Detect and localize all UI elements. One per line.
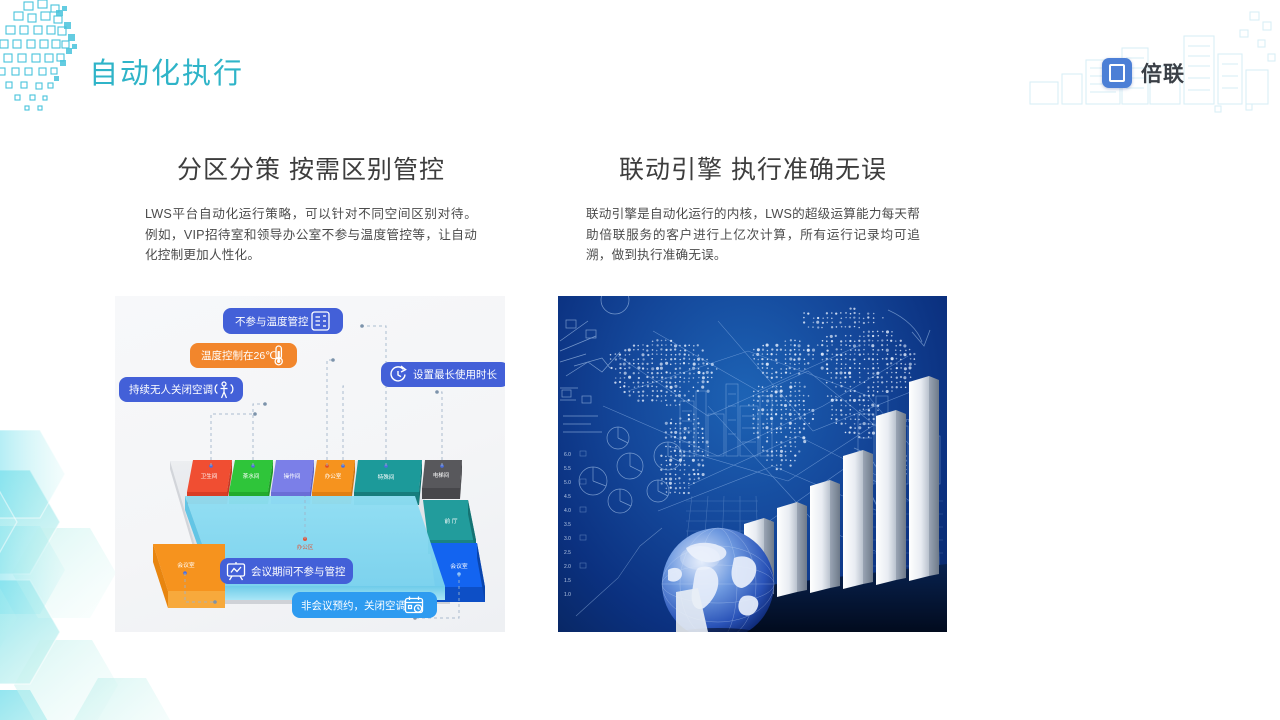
callout-pill[interactable]: 设置最长使用时长 — [381, 362, 505, 387]
svg-text:温度控制在26℃: 温度控制在26℃ — [201, 349, 277, 362]
column-left: 分区分策 按需区别管控 LWS平台自动化运行策略，可以针对不同空间区别对待。例如… — [115, 150, 507, 266]
svg-text:3.0: 3.0 — [564, 536, 571, 542]
slide-root: 自动化执行 倍联 分区分策 按需区别管控 LWS平台自动化运行策略，可以针对不同… — [0, 0, 1280, 720]
page-title: 自动化执行 — [89, 50, 244, 92]
square-logo-icon — [1102, 58, 1132, 88]
svg-text:会议室: 会议室 — [177, 561, 195, 569]
column-right: 联动引擎 执行准确无误 联动引擎是自动化运行的内核，LWS的超级运算能力每天帮助… — [558, 150, 948, 266]
callout-pill[interactable]: 会议期间不参与管控 — [220, 558, 353, 584]
svg-text:2.5: 2.5 — [564, 550, 571, 556]
svg-text:茶水间: 茶水间 — [243, 472, 260, 480]
svg-text:5.5: 5.5 — [564, 466, 571, 472]
svg-text:办公区: 办公区 — [297, 543, 314, 551]
global-data-computation-image: 6.05.55.0 4.54.03.5 3.02.52.0 1.51.0 — [558, 296, 947, 632]
svg-text:5.0: 5.0 — [564, 480, 571, 486]
svg-text:特殊间: 特殊间 — [378, 473, 395, 481]
svg-text:4.5: 4.5 — [564, 494, 571, 500]
svg-text:会议期间不参与管控: 会议期间不参与管控 — [251, 565, 346, 578]
column-left-body: LWS平台自动化运行策略，可以针对不同空间区别对待。例如，VIP招待室和领导办公… — [115, 204, 507, 266]
column-left-heading: 分区分策 按需区别管控 — [115, 150, 507, 186]
axis-tick-labels: 6.05.55.0 4.54.03.5 3.02.52.0 1.51.0 — [564, 452, 571, 598]
svg-text:1.5: 1.5 — [564, 578, 571, 584]
brand-name: 倍联 — [1141, 58, 1185, 88]
callout-pill[interactable]: 温度控制在26℃ — [190, 343, 297, 368]
svg-text:持续无人关闭空调: 持续无人关闭空调 — [129, 383, 213, 396]
svg-text:1.0: 1.0 — [564, 592, 571, 598]
svg-text:2.0: 2.0 — [564, 564, 571, 570]
svg-text:前 厅: 前 厅 — [444, 517, 457, 525]
svg-text:会议室: 会议室 — [450, 562, 468, 570]
svg-text:设置最长使用时长: 设置最长使用时长 — [413, 368, 497, 381]
wireframe-charts — [560, 296, 682, 513]
svg-text:电梯间: 电梯间 — [433, 471, 449, 479]
callout-pill[interactable]: 非会议预约，关闭空调 — [292, 592, 437, 618]
room-block: 会议室 — [153, 544, 225, 608]
slide-header: 自动化执行 倍联 — [0, 0, 1280, 118]
column-right-heading: 联动引擎 执行准确无误 — [558, 150, 948, 186]
svg-text:卫生间: 卫生间 — [201, 472, 218, 480]
brand-logo: 倍联 — [1102, 58, 1185, 88]
svg-text:4.0: 4.0 — [564, 508, 571, 514]
svg-text:非会议预约，关闭空调: 非会议预约，关闭空调 — [301, 599, 406, 612]
svg-text:办公室: 办公室 — [325, 472, 342, 480]
callout-pill[interactable]: 持续无人关闭空调 — [119, 377, 243, 402]
svg-text:操作间: 操作间 — [284, 472, 301, 480]
column-right-body: 联动引擎是自动化运行的内核，LWS的超级运算能力每天帮助倍联服务的客户进行上亿次… — [558, 204, 948, 266]
svg-text:3.5: 3.5 — [564, 522, 571, 528]
callout-pill[interactable]: 不参与温度管控 — [223, 308, 343, 334]
zoned-policy-floorplan-diagram: 卫生间 茶水间 操作间 — [115, 296, 505, 632]
svg-text:6.0: 6.0 — [564, 452, 571, 458]
svg-text:不参与温度管控: 不参与温度管控 — [235, 315, 309, 328]
